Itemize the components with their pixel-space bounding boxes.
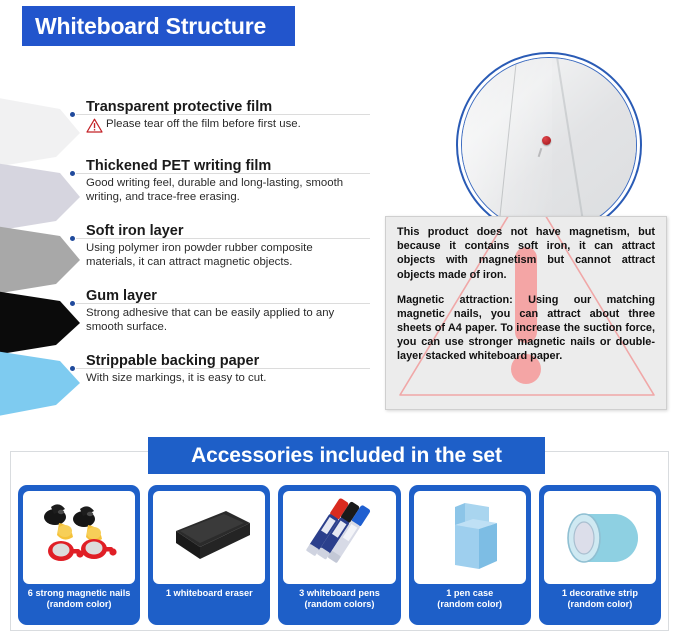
accessory-label-sub: (random color)	[28, 599, 131, 610]
layer-title: Soft iron layer	[86, 224, 370, 239]
accessory-label-main: 1 decorative strip	[562, 588, 638, 598]
accessory-card-pen-case[interactable]: 1 pen case (random color)	[409, 485, 531, 625]
list-item: Strippable backing paper With size marki…	[70, 354, 370, 404]
layer-title: Strippable backing paper	[86, 354, 370, 369]
accessory-card-decorative-strip[interactable]: 1 decorative strip (random color)	[539, 485, 661, 625]
whiteboard-photo	[461, 57, 637, 233]
layer-divider	[76, 238, 370, 239]
accessory-label-main: 1 whiteboard eraser	[166, 588, 253, 598]
whiteboard-photo-circle	[456, 52, 642, 238]
layer-description: Good writing feel, durable and long-last…	[86, 177, 361, 205]
layer-divider	[76, 173, 370, 174]
layer-description-text: Please tear off the film before first us…	[106, 118, 301, 132]
accessory-label: 1 whiteboard eraser	[166, 588, 253, 599]
magnetic-nails-icon	[33, 497, 125, 579]
layer-bullet-dot	[70, 236, 75, 241]
layer-bullet-dot	[70, 366, 75, 371]
layer-title: Gum layer	[86, 289, 370, 304]
layer-title: Thickened PET writing film	[86, 159, 370, 174]
accessory-card-whiteboard-eraser[interactable]: 1 whiteboard eraser	[148, 485, 270, 625]
layer-description: Please tear off the film before first us…	[86, 118, 361, 138]
accessory-label: 3 whiteboard pens (random colors)	[299, 588, 380, 610]
accessory-thumbnail	[153, 491, 265, 584]
whiteboard-pens-icon	[294, 496, 386, 580]
info-paragraph-2: Magnetic attraction: Using our matching …	[397, 293, 655, 364]
accessory-label-main: 3 whiteboard pens	[299, 588, 380, 598]
accessory-label-main: 6 strong magnetic nails	[28, 588, 131, 598]
accessory-label: 1 decorative strip (random color)	[562, 588, 638, 610]
accessory-card-magnetic-nails[interactable]: 6 strong magnetic nails (random color)	[18, 485, 140, 625]
decorative-tape-icon	[554, 500, 646, 576]
layer-bullet-dot	[70, 112, 75, 117]
layer-description: With size markings, it is easy to cut.	[86, 372, 361, 386]
accessory-card-whiteboard-pens[interactable]: 3 whiteboard pens (random colors)	[278, 485, 400, 625]
magnetism-info-text: This product does not have magnetism, bu…	[386, 217, 666, 364]
magnetism-info-box: This product does not have magnetism, bu…	[385, 216, 667, 410]
list-item: Transparent protective film Please tear …	[70, 100, 370, 156]
whiteboard-structure-section: Whiteboard Structure Transparent prot	[0, 0, 679, 420]
accessories-card-list: 6 strong magnetic nails (random color) 1…	[18, 485, 661, 625]
accessory-label-main: 1 pen case	[446, 588, 493, 598]
infographic-page: Whiteboard Structure Transparent prot	[0, 0, 679, 638]
pen-case-icon	[431, 497, 509, 579]
list-item: Thickened PET writing film Good writing …	[70, 159, 370, 221]
accessory-thumbnail	[544, 491, 656, 584]
accessory-label-sub: (random colors)	[299, 599, 380, 610]
warning-triangle-icon	[86, 118, 103, 138]
layer-description-list: Transparent protective film Please tear …	[70, 100, 370, 407]
accessory-thumbnail	[23, 491, 135, 584]
layer-bullet-dot	[70, 171, 75, 176]
layer-divider	[76, 114, 370, 115]
accessories-title-banner: Accessories included in the set	[148, 437, 545, 474]
whiteboard-eraser-icon	[160, 501, 258, 575]
accessory-label-sub: (random color)	[437, 599, 502, 610]
accessories-title: Accessories included in the set	[191, 444, 502, 468]
layer-description: Using polymer iron powder rubber composi…	[86, 242, 361, 270]
layer-description: Strong adhesive that can be easily appli…	[86, 307, 361, 335]
accessory-label-sub: (random color)	[562, 599, 638, 610]
page-title: Whiteboard Structure	[22, 13, 266, 40]
accessory-label: 1 pen case (random color)	[437, 588, 502, 610]
layer-title: Transparent protective film	[86, 100, 370, 115]
accessory-thumbnail	[414, 491, 526, 584]
layer-divider	[76, 368, 370, 369]
structure-title-banner: Whiteboard Structure	[22, 6, 295, 46]
accessory-label: 6 strong magnetic nails (random color)	[28, 588, 131, 610]
list-item: Soft iron layer Using polymer iron powde…	[70, 224, 370, 286]
info-paragraph-1: This product does not have magnetism, bu…	[397, 225, 655, 282]
layer-bullet-dot	[70, 301, 75, 306]
list-item: Gum layer Strong adhesive that can be ea…	[70, 289, 370, 351]
accessory-thumbnail	[283, 491, 395, 584]
layer-divider	[76, 303, 370, 304]
